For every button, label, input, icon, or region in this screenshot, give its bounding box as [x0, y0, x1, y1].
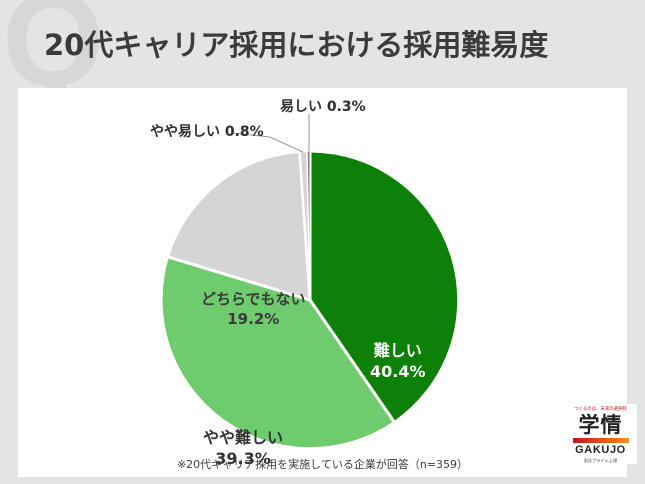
callout-label-yaya-yasashii: やや易しい 0.8% [150, 121, 264, 141]
gakujo-logo: つくるのは、未来の選択肢 学情 GAKUJO 東証プライム上場 [564, 404, 637, 464]
chart-card: 難しい 40.4% やや難しい 39.3% どちらでもない 19.2% 易しい … [18, 88, 627, 477]
slice-label-dochira-value: 19.2% [201, 310, 306, 330]
logo-gradient-bar [573, 438, 629, 443]
slice-label-muzukashii: 難しい 40.4% [370, 341, 426, 383]
slice-label-yaya-muzukashii-name: やや難しい [203, 428, 283, 449]
pie-chart: 難しい 40.4% やや難しい 39.3% どちらでもない 19.2% 易しい … [18, 88, 627, 477]
page-title: 20代キャリア採用における採用難易度 [44, 22, 548, 64]
logo-kanji: 学情 [564, 414, 637, 436]
chart-footnote: ※20代キャリア採用を実施している企業が回答（n=359） [18, 456, 627, 472]
slice-label-muzukashii-value: 40.4% [370, 362, 426, 383]
logo-roman-name: GAKUJO [564, 444, 637, 458]
slice-label-dochira: どちらでもない 19.2% [201, 290, 306, 329]
slice-label-muzukashii-name: 難しい [370, 341, 426, 362]
logo-tagline: つくるのは、未来の選択肢 [564, 408, 637, 412]
slide-root: Q 20代キャリア採用における採用難易度 [0, 0, 645, 484]
pie-chart-svg [18, 88, 627, 477]
callout-label-yasashii: 易しい 0.3% [280, 96, 366, 116]
slice-label-dochira-name: どちらでもない [201, 290, 306, 310]
logo-subtext: 東証プライム上場 [564, 459, 637, 463]
